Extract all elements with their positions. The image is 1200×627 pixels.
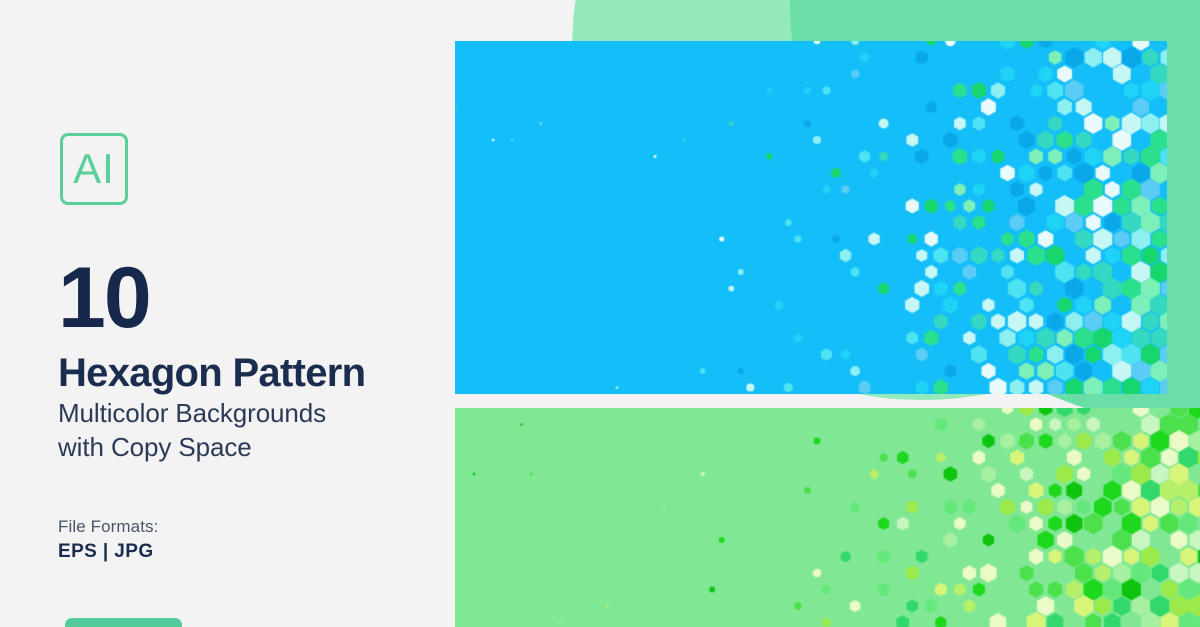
page-subtitle: Multicolor Backgrounds with Copy Space [58,396,326,465]
promo-graphic-canvas: AI 10 Hexagon Pattern Multicolor Backgro… [0,0,1200,627]
page-subtitle-line-1: Multicolor Backgrounds [58,396,326,430]
blue-hexagon-preview-panel[interactable] [455,41,1167,394]
blue-hexagon-pattern-canvas [455,41,1167,394]
page-subtitle-line-2: with Copy Space [58,430,326,464]
ai-format-badge: AI [60,133,128,205]
file-formats-value: EPS | JPG [58,541,154,563]
file-formats-label: File Formats: [58,517,158,537]
green-hexagon-preview-panel[interactable] [455,408,1200,627]
item-count: 10 [58,255,150,341]
info-sidebar: AI 10 Hexagon Pattern Multicolor Backgro… [0,0,455,627]
ai-format-badge-label: AI [73,148,115,190]
cta-button[interactable] [65,618,182,627]
page-title: Hexagon Pattern [58,352,365,394]
green-hexagon-pattern-canvas [455,408,1200,627]
